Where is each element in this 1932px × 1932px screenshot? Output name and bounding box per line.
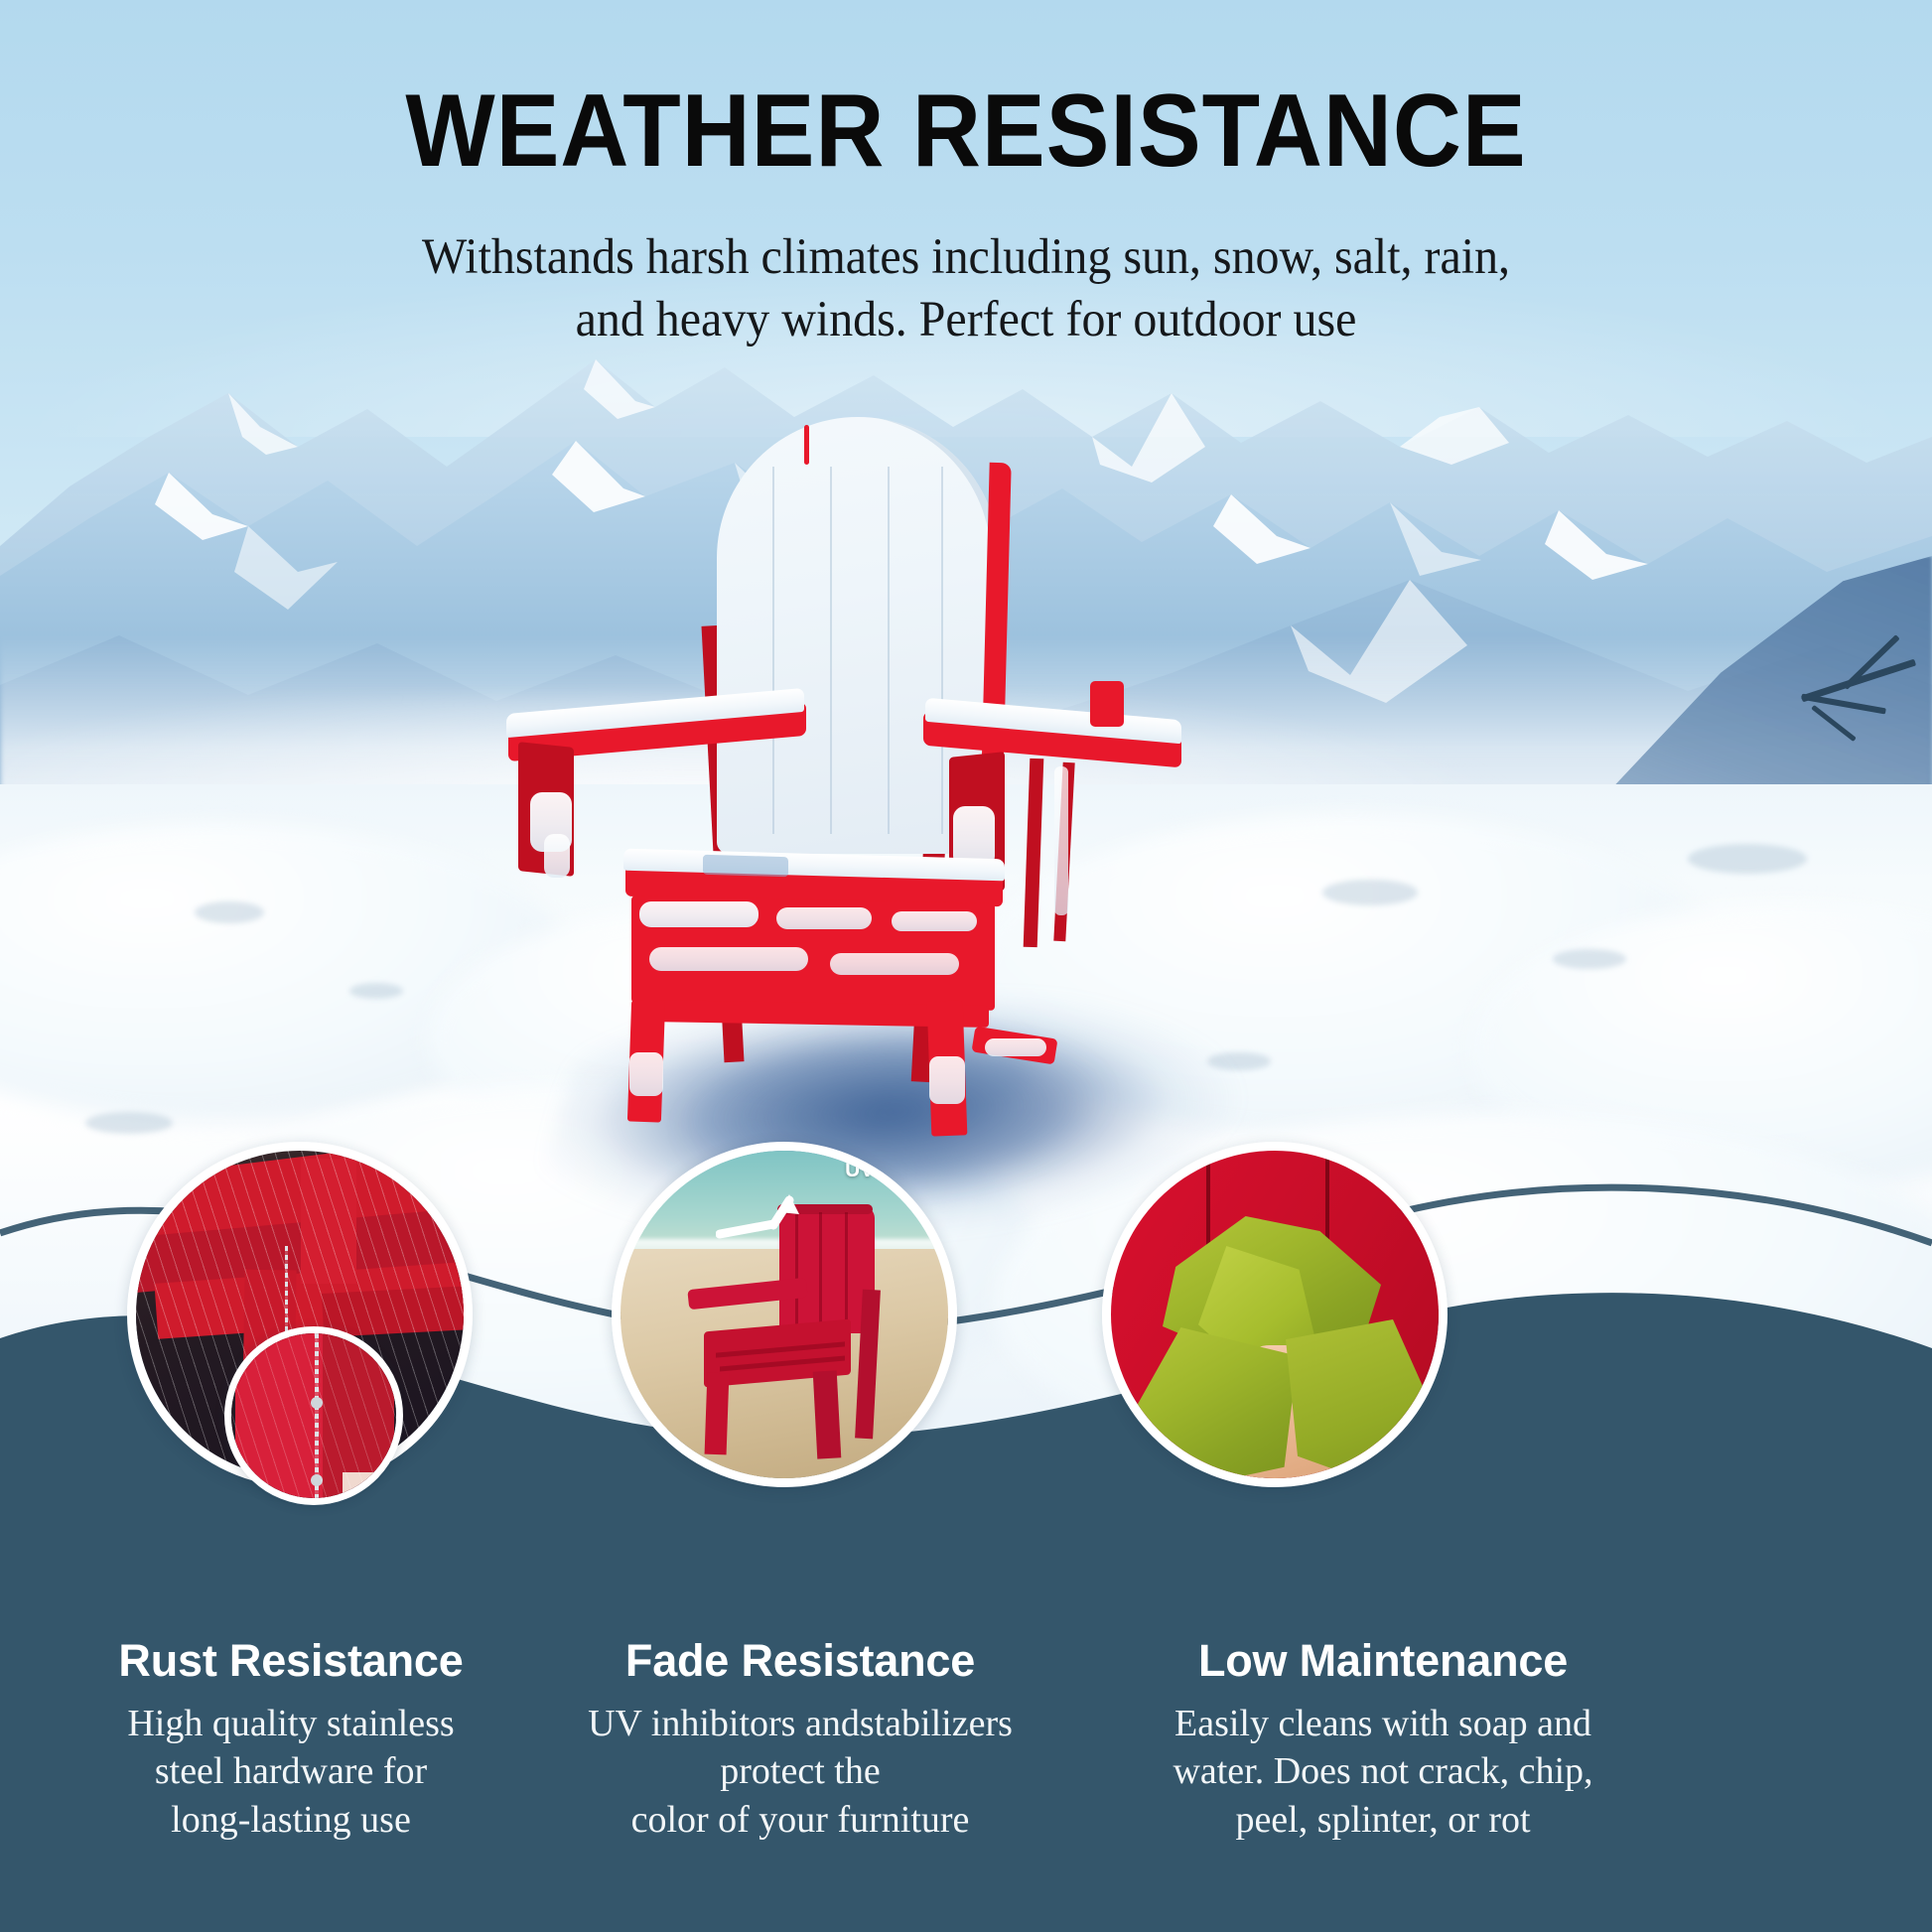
pine-branch-foreground bbox=[1777, 643, 1926, 762]
feature-body-line: peel, splinter, or rot bbox=[1085, 1796, 1681, 1845]
feature-body-line: water. Does not crack, chip, bbox=[1085, 1747, 1681, 1796]
feature-image-low-maintenance bbox=[1102, 1142, 1448, 1487]
feature-title-rust-resistance: Rust Resistance bbox=[13, 1636, 569, 1686]
feature-body-line: protect the bbox=[502, 1747, 1098, 1796]
feature-image-fade-resistance: UV Light bbox=[612, 1142, 957, 1487]
uv-light-arrow-icon bbox=[716, 1194, 813, 1252]
feature-title-low-maintenance: Low Maintenance bbox=[1085, 1636, 1681, 1686]
feature-body-line: color of your furniture bbox=[502, 1796, 1098, 1845]
feature-block-rust-resistance: Rust Resistance High quality stainless s… bbox=[13, 1636, 569, 1844]
product-infographic: UV Light WEATHER RESISTANCE Withstands h… bbox=[0, 0, 1932, 1932]
feature-body-line: steel hardware for bbox=[13, 1747, 569, 1796]
feature-body-low-maintenance: Easily cleans with soap and water. Does … bbox=[1085, 1700, 1681, 1845]
page-subtitle: Withstands harsh climates including sun,… bbox=[58, 226, 1873, 351]
feature-block-fade-resistance: Fade Resistance UV inhibitors andstabili… bbox=[502, 1636, 1098, 1844]
feature-body-line: High quality stainless bbox=[13, 1700, 569, 1748]
feature-inset-zoom-hardware bbox=[224, 1326, 403, 1505]
page-title: WEATHER RESISTANCE bbox=[77, 79, 1855, 183]
subtitle-line-1: Withstands harsh climates including sun,… bbox=[58, 226, 1873, 289]
uv-light-label: UV Light bbox=[845, 1159, 932, 1182]
feature-body-line: Easily cleans with soap and bbox=[1085, 1700, 1681, 1748]
subtitle-line-2: and heavy winds. Perfect for outdoor use bbox=[58, 289, 1873, 351]
feature-body-fade-resistance: UV inhibitors andstabilizers protect the… bbox=[502, 1700, 1098, 1845]
feature-title-fade-resistance: Fade Resistance bbox=[502, 1636, 1098, 1686]
feature-body-line: UV inhibitors andstabilizers bbox=[502, 1700, 1098, 1748]
feature-body-line: long-lasting use bbox=[13, 1796, 569, 1845]
feature-body-rust-resistance: High quality stainless steel hardware fo… bbox=[13, 1700, 569, 1845]
feature-block-low-maintenance: Low Maintenance Easily cleans with soap … bbox=[1085, 1636, 1681, 1844]
hero-adirondack-chair bbox=[596, 417, 1211, 1072]
